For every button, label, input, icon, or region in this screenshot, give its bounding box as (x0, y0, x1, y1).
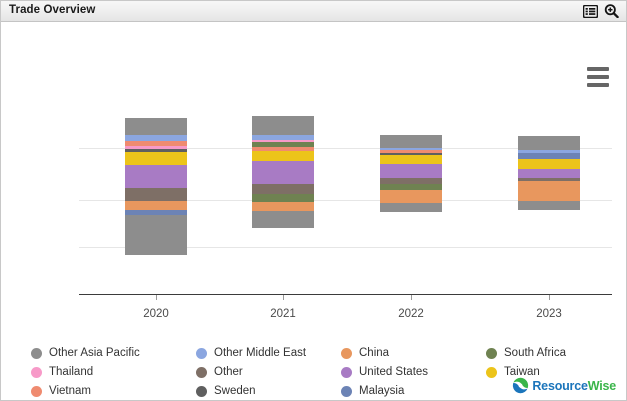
legend-item[interactable]: Thailand (31, 363, 196, 382)
bar-segment[interactable] (125, 165, 187, 188)
legend-item[interactable]: Other (196, 363, 341, 382)
legend-item-label: China (359, 348, 389, 360)
legend-color-swatch-icon (486, 367, 497, 378)
bar-segment[interactable] (380, 164, 442, 178)
legend-color-swatch-icon (486, 348, 497, 359)
logo-word-wise: Wise (588, 379, 616, 393)
x-axis-line (79, 294, 612, 295)
legend-item-label: Other (214, 367, 243, 379)
table-view-icon[interactable] (583, 5, 598, 18)
window-titlebar: Trade Overview (1, 1, 626, 22)
titlebar-icon-group (583, 4, 619, 18)
logo-wordmark: ResourceWise (532, 379, 616, 393)
x-axis-tick (283, 295, 284, 300)
logo-word-resource: Resource (532, 379, 587, 393)
bar-segment[interactable] (518, 181, 580, 201)
legend-color-swatch-icon (196, 348, 207, 359)
legend-color-swatch-icon (196, 386, 207, 397)
legend-item-label: United States (359, 367, 428, 379)
bar-segment[interactable] (518, 136, 580, 150)
x-axis-label-2021: 2021 (248, 308, 318, 320)
stacked-bar-2023[interactable] (518, 136, 580, 210)
bar-segment[interactable] (380, 135, 442, 148)
x-axis-tick (411, 295, 412, 300)
bar-segment[interactable] (125, 215, 187, 255)
legend-item-label: South Africa (504, 348, 566, 360)
legend-item-label: Other Asia Pacific (49, 348, 140, 360)
x-axis-label-2020: 2020 (121, 308, 191, 320)
legend-item-label: Thailand (49, 367, 93, 379)
bar-segment[interactable] (125, 118, 187, 135)
legend-color-swatch-icon (31, 367, 42, 378)
legend-item[interactable]: Vietnam (31, 382, 196, 401)
x-axis-label-2022: 2022 (376, 308, 446, 320)
zoom-in-icon[interactable] (604, 4, 619, 18)
legend-color-swatch-icon (196, 367, 207, 378)
plot-area: 2020202120222023 (1, 22, 626, 322)
bar-segment[interactable] (380, 203, 442, 212)
legend-item[interactable]: Other Middle East (196, 344, 341, 363)
legend-item[interactable]: Other Asia Pacific (31, 344, 196, 363)
legend-color-swatch-icon (341, 386, 352, 397)
stacked-bar-2020[interactable] (125, 118, 187, 255)
window-title: Trade Overview (9, 5, 95, 17)
stacked-bar-2021[interactable] (252, 116, 314, 228)
legend-item-label: Malaysia (359, 386, 404, 398)
bar-segment[interactable] (252, 116, 314, 135)
bar-segment[interactable] (252, 194, 314, 202)
stacked-bar-2022[interactable] (380, 135, 442, 212)
x-axis-label-2023: 2023 (514, 308, 584, 320)
legend-item-label: Other Middle East (214, 348, 306, 360)
bar-segment[interactable] (380, 155, 442, 164)
legend-color-swatch-icon (341, 367, 352, 378)
bar-segment[interactable] (380, 190, 442, 203)
x-axis-tick (549, 295, 550, 300)
bar-segment[interactable] (518, 169, 580, 178)
x-axis-tick (156, 295, 157, 300)
bar-segment[interactable] (252, 161, 314, 184)
resourcewise-logo: ResourceWise (512, 377, 616, 394)
bar-segment[interactable] (252, 184, 314, 194)
bar-segment[interactable] (518, 201, 580, 210)
bar-segment[interactable] (252, 202, 314, 211)
bar-segment[interactable] (125, 188, 187, 201)
legend-color-swatch-icon (341, 348, 352, 359)
legend-item-label: Sweden (214, 386, 256, 398)
legend-item-label: Vietnam (49, 386, 91, 398)
bar-segment[interactable] (518, 159, 580, 169)
legend-item[interactable]: United States (341, 363, 486, 382)
legend-color-swatch-icon (31, 386, 42, 397)
bar-segment[interactable] (125, 152, 187, 165)
bar-segment[interactable] (252, 151, 314, 161)
chart-panel: 2020202120222023 Other Asia PacificOther… (1, 22, 626, 400)
bar-segment[interactable] (125, 201, 187, 210)
resourcewise-mark-icon (512, 377, 529, 394)
legend-item[interactable]: Malaysia (341, 382, 486, 401)
legend-item[interactable]: South Africa (486, 344, 606, 363)
legend-color-swatch-icon (31, 348, 42, 359)
legend-item[interactable]: Sweden (196, 382, 341, 401)
bar-segment[interactable] (252, 211, 314, 228)
trade-overview-window: Trade Overview (0, 0, 627, 401)
legend-item[interactable]: China (341, 344, 486, 363)
